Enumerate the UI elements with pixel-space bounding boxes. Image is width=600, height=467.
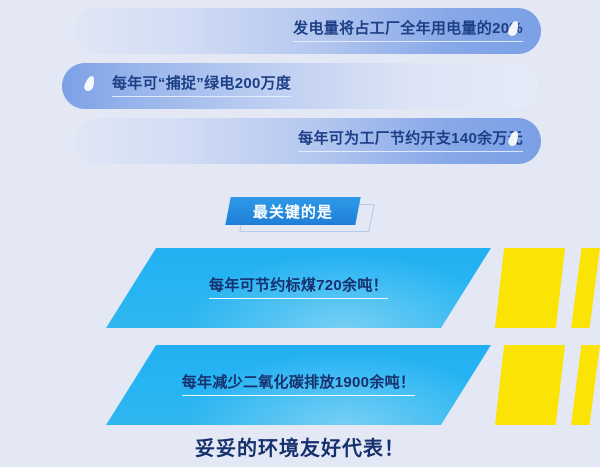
highlight-bar-1-text-wrap: 每年可节约标煤720余吨！ bbox=[106, 248, 491, 328]
footer-tagline-label: 妥妥的环境友好代表！ bbox=[195, 438, 405, 460]
stat-pill-3-label: 每年可为工厂节约开支140余万元 bbox=[298, 130, 523, 151]
stat-pill-1-label: 发电量将占工厂全年用电量的20% bbox=[293, 20, 523, 41]
highlight-bar-1: 每年可节约标煤720余吨！ bbox=[0, 248, 600, 330]
stat-pill-1: 发电量将占工厂全年用电量的20% bbox=[75, 8, 541, 54]
footer-tagline: 妥妥的环境友好代表！ bbox=[0, 432, 600, 461]
quote-mark-icon bbox=[83, 76, 95, 91]
highlight-bar-2: 每年减少二氧化碳排放1900余吨！ bbox=[0, 345, 600, 427]
stat-pill-2-label: 每年可“捕捉”绿电200万度 bbox=[112, 75, 291, 96]
key-banner-plate: 最关键的是 bbox=[225, 197, 360, 225]
stat-pill-3: 每年可为工厂节约开支140余万元 bbox=[75, 118, 541, 164]
highlight-bar-1-accent-wide bbox=[495, 248, 565, 328]
highlight-bar-2-label: 每年减少二氧化碳排放1900余吨！ bbox=[182, 374, 415, 396]
stat-pill-2: 每年可“捕捉”绿电200万度 bbox=[62, 63, 538, 109]
key-banner: 最关键的是 bbox=[228, 197, 380, 235]
highlight-bar-1-accent-thin bbox=[571, 248, 600, 328]
highlight-bar-2-text-wrap: 每年减少二氧化碳排放1900余吨！ bbox=[106, 345, 491, 425]
highlight-bar-1-label: 每年可节约标煤720余吨！ bbox=[209, 277, 388, 299]
key-banner-label: 最关键的是 bbox=[253, 201, 333, 222]
highlight-bar-2-accent-thin bbox=[571, 345, 600, 425]
highlight-bar-2-accent-wide bbox=[495, 345, 565, 425]
infographic-root: 发电量将占工厂全年用电量的20% 每年可“捕捉”绿电200万度 每年可为工厂节约… bbox=[0, 0, 600, 467]
